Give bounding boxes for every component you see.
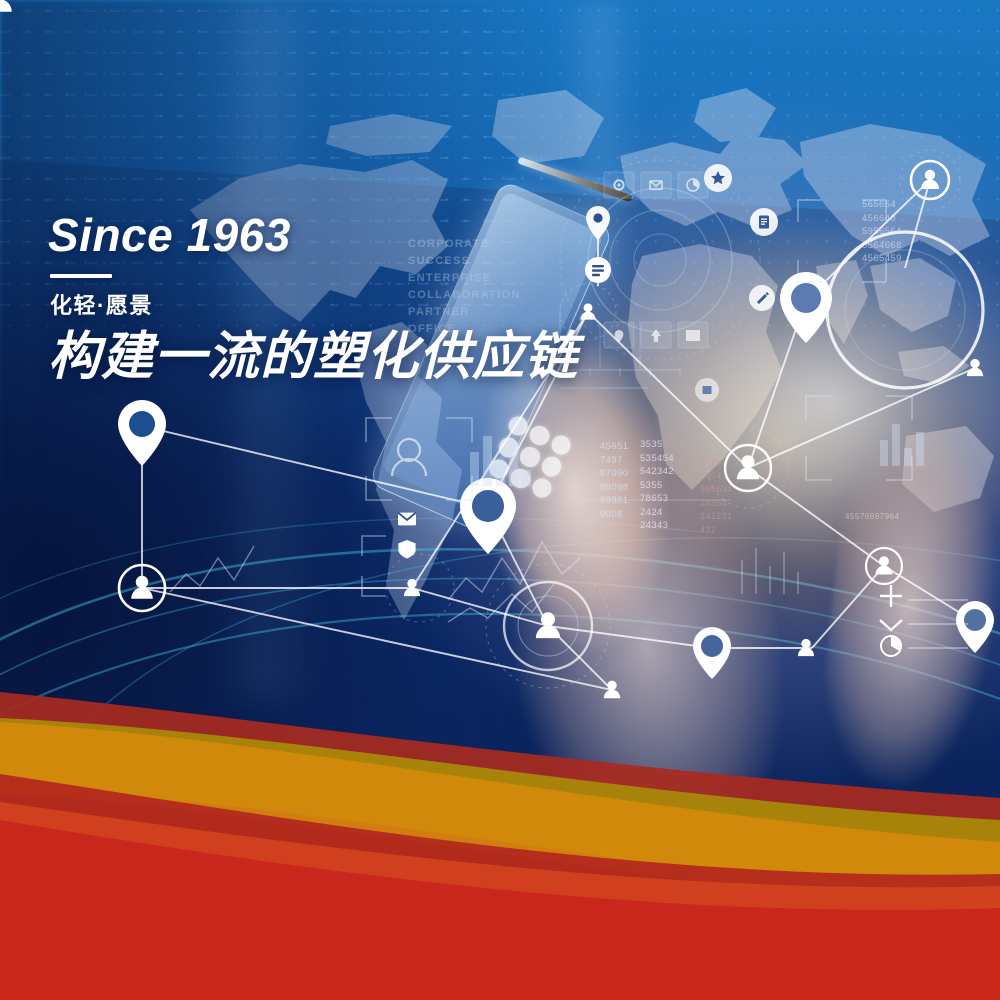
since-label: Since 1963 (48, 212, 608, 258)
data-value: 89098 (600, 481, 628, 495)
data-value: 365634 (700, 483, 732, 497)
data-value: 432 (700, 524, 732, 538)
data-value: 2965 (700, 456, 732, 470)
code-string: 45576987984 (845, 512, 899, 521)
data-value: 45651 (600, 440, 628, 454)
data-column-warm: 2965 8954 365634 24354 241231 432 (700, 456, 732, 537)
data-value: 241231 (700, 510, 732, 524)
data-value: 9008 (600, 508, 628, 522)
data-value: 4565459 (862, 252, 902, 266)
data-column-left: 45651 7497 87090 89098 89981 9008 (600, 440, 628, 521)
data-value: 89981 (600, 494, 628, 508)
bottom-wave-graphic (0, 670, 1000, 1000)
data-value: 8954 (700, 470, 732, 484)
data-value: 6564668 (862, 239, 902, 253)
data-value: 3535 (640, 438, 674, 452)
data-value: 565654 (862, 198, 902, 212)
page-title: 构建一流的塑化供应链 (48, 328, 608, 386)
data-value: 535454 (640, 452, 674, 466)
subtitle: 化轻·愿景 (50, 288, 608, 320)
headline-text-block: Since 1963 化轻·愿景 构建一流的塑化供应链 (48, 212, 608, 386)
data-column-top-right: 565654 456648 5956564 6564668 4565459 (862, 198, 902, 266)
data-value: 2424 (640, 506, 674, 520)
hero-banner: CORPORATE SUCCESS ENTERPRISE COLLABORATI… (0, 0, 1000, 1000)
data-value: 5956564 (862, 225, 902, 239)
data-value: 78653 (640, 492, 674, 506)
data-value: 7497 (600, 454, 628, 468)
data-column-mid: 3535 535454 542342 5355 78653 2424 24343 (640, 438, 674, 533)
data-value: 5355 (640, 479, 674, 493)
data-value: 542342 (640, 465, 674, 479)
data-value: 24354 (700, 497, 732, 511)
data-value: 456648 (862, 212, 902, 226)
data-value: 87090 (600, 467, 628, 481)
data-value: 24343 (640, 519, 674, 533)
divider-rule (50, 274, 112, 278)
